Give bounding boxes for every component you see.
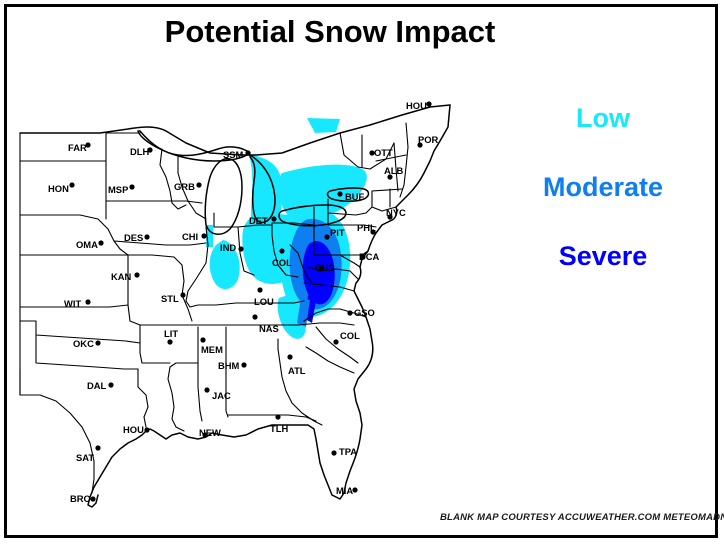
city-marker: COL — [333, 330, 360, 345]
city-marker: LOU — [254, 287, 274, 307]
city-dot — [324, 234, 329, 239]
state-border-ga-fl — [228, 415, 316, 421]
city-marker: JAC — [204, 387, 231, 401]
state-border-wi — [160, 149, 186, 209]
city-label: LOU — [254, 296, 274, 307]
city-marker: MEM — [200, 337, 223, 355]
city-marker: OKC — [73, 338, 101, 349]
city-marker: GRB — [174, 181, 202, 192]
city-marker: BRO — [70, 493, 96, 504]
city-marker: POR — [417, 134, 438, 148]
city-label: PHL — [357, 222, 376, 233]
city-label: JAC — [212, 390, 231, 401]
city-dot — [287, 354, 292, 359]
city-label: SAT — [76, 452, 94, 463]
state-border-ne — [20, 215, 128, 255]
impact-zone-low — [307, 118, 340, 133]
city-marker: TLH — [270, 414, 288, 434]
city-label: PIT — [330, 227, 345, 238]
city-dot — [245, 150, 250, 155]
city-label: POR — [418, 134, 439, 145]
city-dot — [95, 340, 100, 345]
city-marker: PHL — [357, 222, 376, 235]
city-marker: IND — [220, 242, 244, 253]
city-label: DCA — [359, 251, 380, 262]
city-marker: NAS — [252, 314, 278, 334]
city-label: NYC — [386, 207, 406, 218]
city-label: DES — [124, 232, 143, 243]
city-dot — [333, 339, 338, 344]
city-marker: DCA — [359, 251, 380, 262]
city-label: HOU — [406, 100, 427, 111]
city-label: BRO — [70, 493, 91, 504]
city-marker: NYC — [386, 207, 406, 220]
city-dot — [180, 292, 185, 297]
city-marker: CHS — [315, 262, 335, 273]
city-label: IND — [220, 242, 236, 253]
city-dot — [271, 216, 276, 221]
city-dot — [90, 496, 95, 501]
city-dot — [201, 233, 206, 238]
city-dot — [337, 191, 342, 196]
city-label: ATL — [288, 365, 306, 376]
city-dot — [204, 387, 209, 392]
city-dot — [241, 362, 246, 367]
city-label: WIT — [64, 298, 81, 309]
city-dot — [108, 382, 113, 387]
state-border-la — [168, 363, 198, 431]
city-marker: HOU — [406, 100, 432, 111]
city-marker: TPA — [331, 446, 357, 457]
legend-item-moderate: Moderate — [498, 174, 708, 201]
city-label: NEW — [199, 427, 221, 438]
city-marker: ALB — [384, 165, 403, 180]
city-marker: MSP — [108, 184, 135, 195]
legend-item-low: Low — [498, 105, 708, 132]
map-svg: FARDLHHONMSPGRBSSMOMADESCHIDETINDCOLPITB… — [10, 95, 480, 520]
city-label: DAL — [87, 380, 107, 391]
city-dot — [196, 182, 201, 187]
city-marker: DES — [124, 232, 150, 243]
city-label: ALB — [384, 165, 403, 176]
city-label: OTT — [374, 147, 393, 158]
city-dot — [98, 240, 103, 245]
state-border-mo — [128, 255, 182, 265]
city-label: MEM — [201, 344, 223, 355]
city-dot — [347, 310, 352, 315]
city-label: HOU — [123, 424, 144, 435]
city-marker: MIA — [336, 485, 358, 496]
city-marker: DAL — [87, 380, 114, 391]
city-marker: CHI — [182, 231, 207, 242]
city-marker: NEW — [199, 427, 221, 438]
snow-impact-map: FARDLHHONMSPGRBSSMOMADESCHIDETINDCOLPITB… — [10, 95, 480, 520]
city-marker: ATL — [287, 354, 305, 376]
city-label: KAN — [111, 271, 132, 282]
city-label: BUF — [345, 191, 365, 202]
city-label: OKC — [73, 338, 94, 349]
new-england-borders — [400, 123, 408, 197]
city-label: TLH — [270, 423, 288, 434]
city-label: SSM — [223, 149, 244, 160]
city-marker: SAT — [76, 445, 101, 463]
city-marker: OMA — [76, 239, 104, 250]
state-border-al — [226, 327, 228, 417]
city-label: GRB — [174, 181, 195, 192]
impact-legend: Low Moderate Severe — [498, 105, 708, 312]
city-dot — [200, 337, 205, 342]
city-label: NAS — [259, 323, 279, 334]
city-label: DET — [249, 215, 268, 226]
city-dot — [129, 184, 134, 189]
city-dot — [95, 445, 100, 450]
state-border-tx — [138, 369, 148, 427]
city-label: BHM — [218, 360, 240, 371]
city-label: MIA — [336, 485, 353, 496]
city-marker: GSO — [347, 307, 374, 318]
city-label: GSO — [354, 307, 375, 318]
map-credit: BLANK MAP COURTESY ACCUWEATHER.COM METEO… — [440, 512, 724, 523]
city-dot — [257, 287, 262, 292]
city-label: LIT — [164, 328, 178, 339]
city-dot — [426, 101, 431, 106]
city-marker: HON — [48, 182, 75, 194]
city-marker: KAN — [111, 271, 140, 282]
city-label: TPA — [339, 446, 357, 457]
city-marker: FAR — [68, 142, 91, 153]
city-label: STL — [161, 293, 179, 304]
lake-michigan — [205, 159, 242, 235]
city-dot — [69, 182, 74, 187]
city-dot — [144, 234, 149, 239]
city-label: OMA — [76, 239, 98, 250]
state-border-sc — [306, 347, 354, 373]
city-dot — [85, 299, 90, 304]
city-label: COL — [340, 330, 360, 341]
city-dot — [275, 414, 280, 419]
city-label: COL — [272, 257, 292, 268]
city-dot — [252, 314, 257, 319]
city-marker: DLH — [130, 146, 153, 157]
city-dot — [167, 339, 172, 344]
city-label: FAR — [68, 142, 87, 153]
page-title: Potential Snow Impact — [0, 14, 660, 50]
city-dot — [279, 248, 284, 253]
state-border-mo — [128, 255, 140, 325]
legend-item-severe: Severe — [498, 243, 708, 270]
city-label: DLH — [130, 146, 149, 157]
state-border-tx-w — [20, 369, 94, 493]
city-marker: OTT — [369, 147, 393, 158]
state-border-ga — [278, 339, 322, 425]
city-label: MSP — [108, 184, 128, 195]
city-marker: STL — [161, 292, 186, 304]
city-label: HON — [48, 183, 69, 194]
city-marker: BHM — [218, 360, 247, 371]
city-dot — [144, 427, 149, 432]
city-dot — [331, 450, 336, 455]
city-dot — [238, 246, 243, 251]
city-label: CHI — [182, 231, 198, 242]
city-marker: LIT — [164, 328, 178, 345]
city-label: CHS — [315, 262, 335, 273]
city-dot — [134, 272, 139, 277]
